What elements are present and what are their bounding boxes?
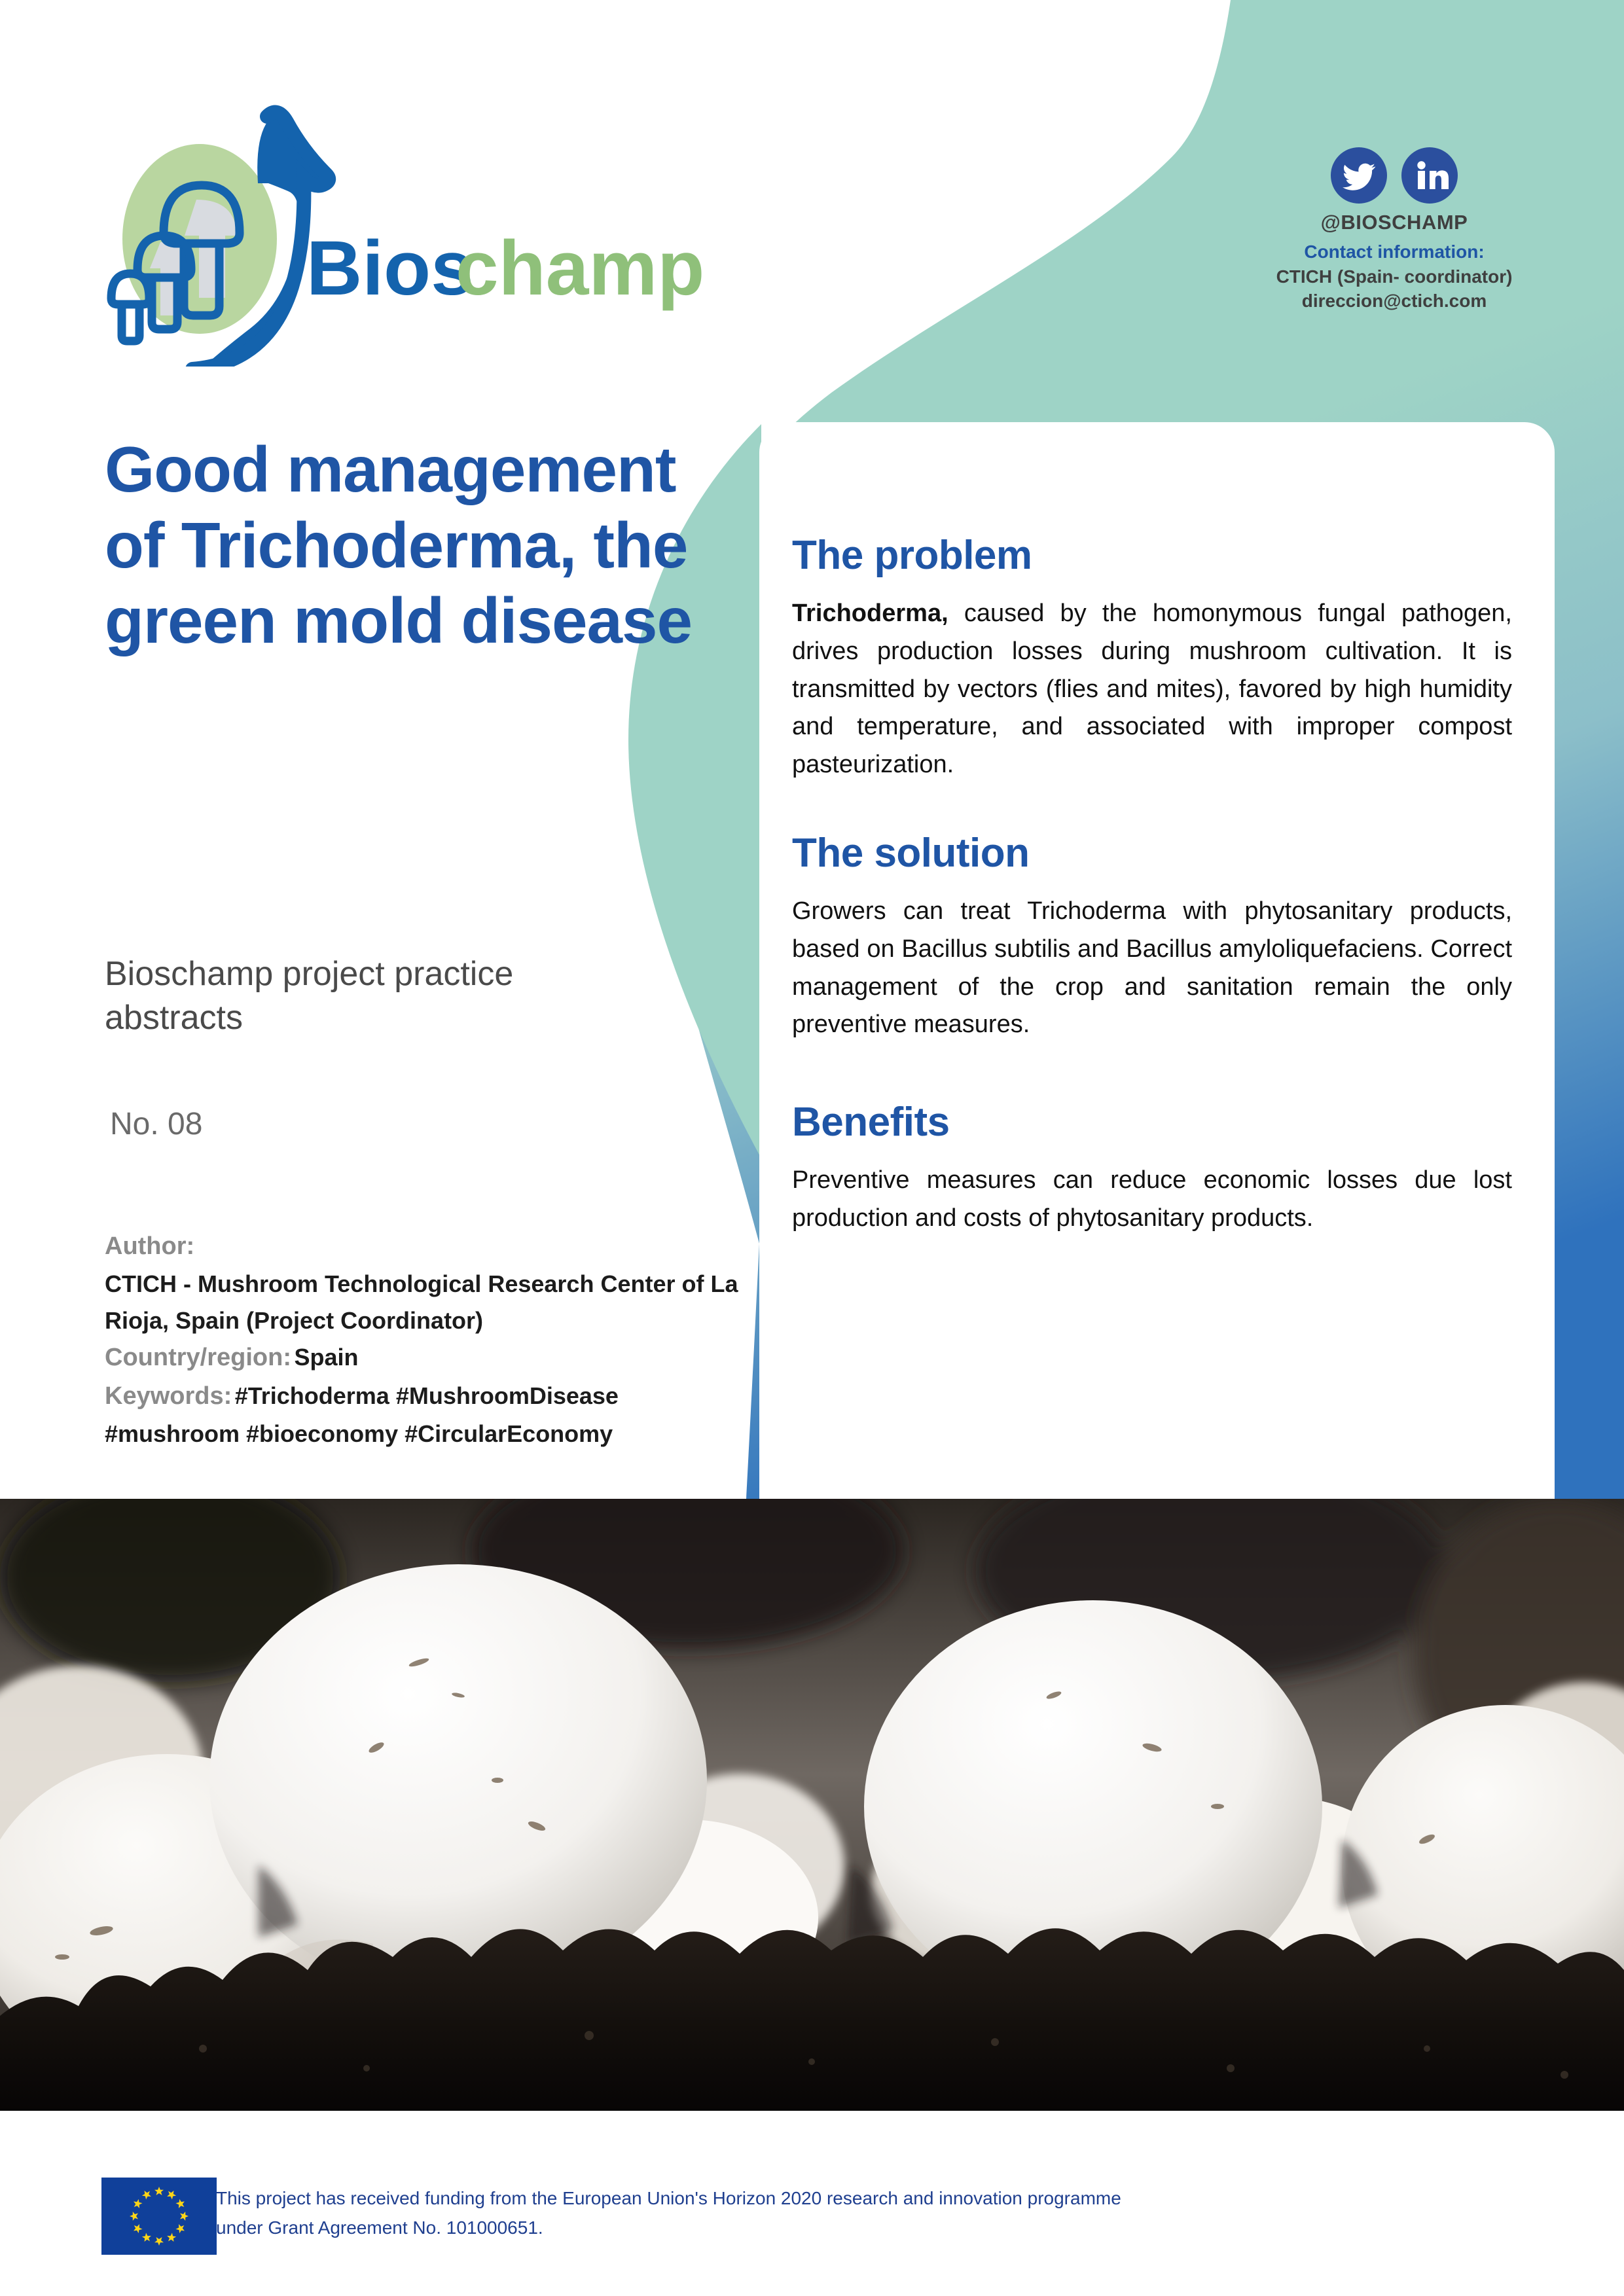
social-contact-block: @BIOSCHAMP Contact information: CTICH (S… — [1224, 147, 1564, 314]
issue-number: No. 08 — [110, 1106, 202, 1142]
logo-wordmark-bios: Bios — [306, 225, 474, 312]
contact-label: Contact information: — [1224, 240, 1564, 264]
keywords-row: Keywords: #Trichoderma #MushroomDisease … — [105, 1377, 759, 1452]
author-value: CTICH - Mushroom Technological Research … — [105, 1266, 759, 1339]
social-handle: @BIOSCHAMP — [1224, 210, 1564, 236]
contact-org: CTICH (Spain- coordinator) — [1224, 264, 1564, 289]
metadata-block: Author: CTICH - Mushroom Technological R… — [105, 1227, 759, 1452]
author-label: Author: — [105, 1227, 759, 1266]
mushroom-photo-image — [0, 1499, 1624, 2111]
logo-icon: Bios champ — [98, 105, 753, 367]
section-lead-problem: Trichoderma, — [792, 600, 948, 627]
social-icons — [1224, 147, 1564, 204]
poster-page: Bios champ @BIOSCHAMP Contact i — [0, 0, 1624, 2296]
section-body-benefits: Preventive measures can reduce economic … — [792, 1162, 1512, 1238]
section-heading-benefits: Benefits — [792, 1100, 1512, 1145]
content-card-body: The problem Trichoderma, caused by the h… — [792, 533, 1512, 1238]
country-row: Country/region: Spain — [105, 1338, 759, 1377]
section-body-problem: Trichoderma, caused by the homonymous fu… — [792, 595, 1512, 784]
eu-flag-icon — [101, 2178, 217, 2255]
section-heading-solution: The solution — [792, 831, 1512, 876]
keywords-label: Keywords: — [105, 1382, 232, 1410]
mushroom-photo — [0, 1499, 1624, 2111]
page-title: Good management of Trichoderma, the gree… — [105, 432, 720, 659]
section-body-solution: Growers can treat Trichoderma with phyto… — [792, 893, 1512, 1044]
linkedin-icon[interactable] — [1401, 147, 1458, 204]
twitter-icon[interactable] — [1331, 147, 1387, 204]
country-value: Spain — [294, 1344, 358, 1371]
bioschamp-logo: Bios champ — [98, 105, 753, 367]
logo-wordmark-champ: champ — [456, 225, 704, 312]
content-card: The problem Trichoderma, caused by the h… — [759, 422, 1555, 1594]
page-subtitle: Bioschamp project practice abstracts — [105, 952, 628, 1039]
country-label: Country/region: — [105, 1344, 291, 1371]
funding-statement: This project has received funding from t… — [216, 2183, 1132, 2243]
contact-email[interactable]: direccion@ctich.com — [1224, 289, 1564, 314]
section-heading-problem: The problem — [792, 533, 1512, 578]
